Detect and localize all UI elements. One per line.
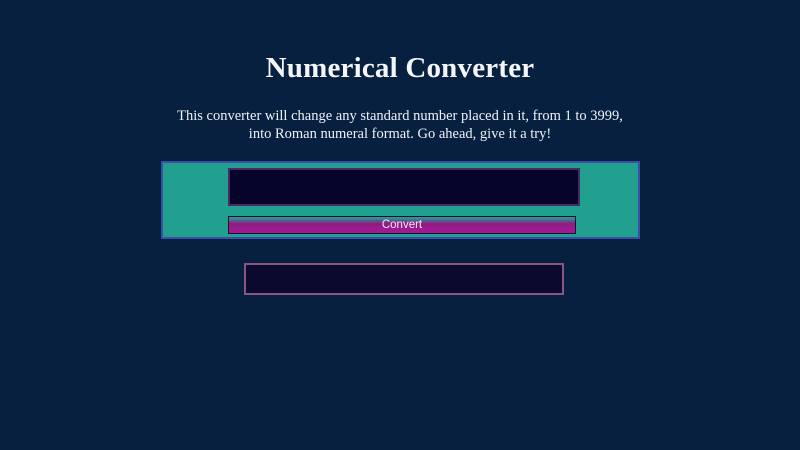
convert-button[interactable]: Convert [228, 216, 576, 234]
result-output-box [244, 263, 564, 295]
page-description: This converter will change any standard … [170, 107, 630, 143]
number-input[interactable] [228, 168, 580, 206]
page-title: Numerical Converter [0, 52, 800, 85]
page-body: { "page": { "title": "Numerical Converte… [0, 0, 800, 450]
converter-panel: Convert [161, 161, 640, 239]
